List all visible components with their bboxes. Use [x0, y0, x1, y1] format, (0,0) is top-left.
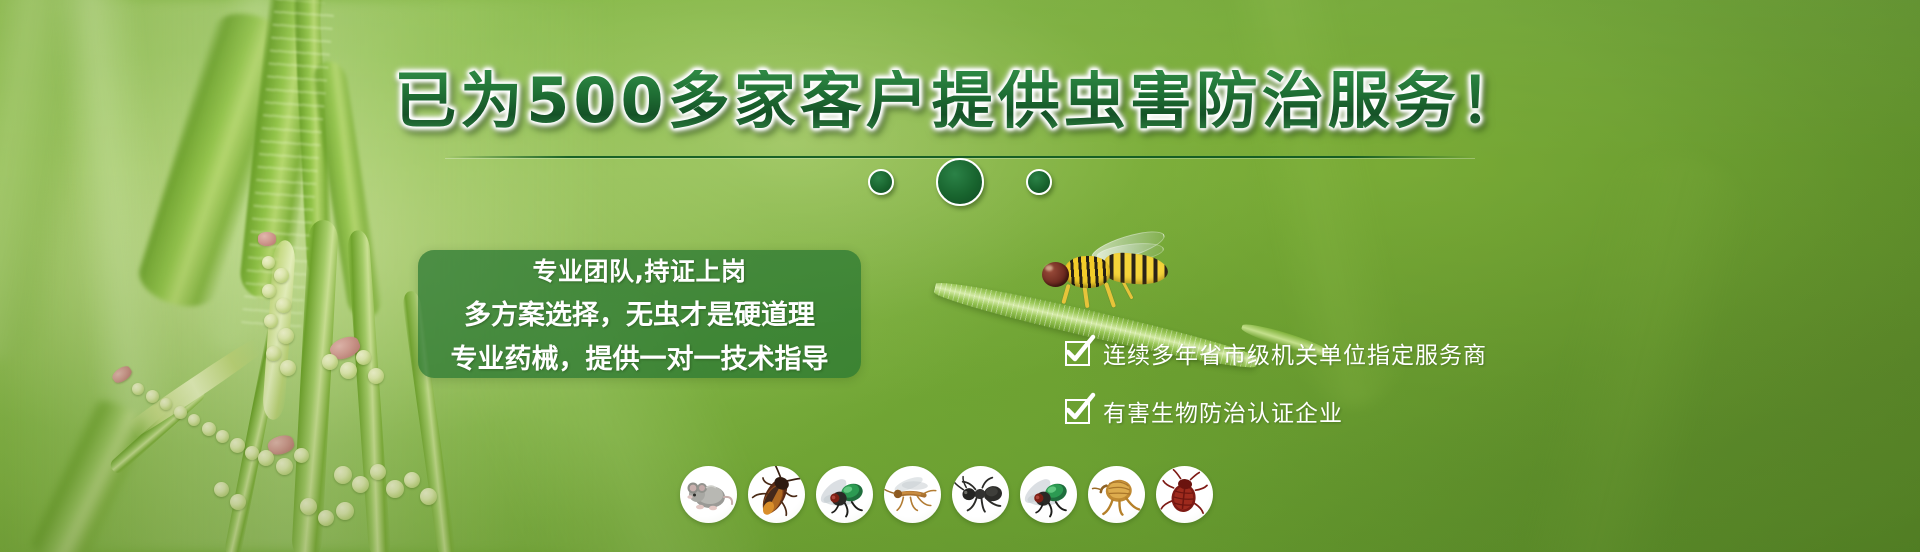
bedbug-icon: [1156, 466, 1213, 523]
credentials-list: 连续多年省市级机关单位指定服务商 有害生物防治认证企业: [1065, 336, 1487, 428]
flea-icon: [1088, 466, 1145, 523]
pest-icon-row: [680, 466, 1213, 523]
check-box-icon: [1065, 399, 1090, 424]
feature-panel-text: 专业团队,持证上岗 多方案选择，无虫才是硬道理 专业药械，提供一对一技术指导: [418, 250, 861, 378]
credential-item: 连续多年省市级机关单位指定服务商: [1065, 336, 1487, 370]
check-box-icon: [1065, 341, 1090, 366]
feature-line-2: 多方案选择，无虫才是硬道理: [464, 293, 815, 332]
hoverfly-icon: [1040, 246, 1170, 304]
credential-label: 有害生物防治认证企业: [1103, 394, 1343, 428]
feature-line-1: 专业团队,持证上岗: [533, 252, 747, 288]
mosquito-icon: [884, 466, 941, 523]
pest-control-banner: 已为500多家客户提供虫害防治服务！ 专业团队,持证上岗 多方案选择，无虫才是硬…: [0, 0, 1920, 552]
fly-icon: [816, 466, 873, 523]
cockroach-icon: [748, 466, 805, 523]
feature-line-3: 专业药械，提供一对一技术指导: [451, 337, 829, 376]
ant-icon: [952, 466, 1009, 523]
dot-large-center: [936, 158, 984, 206]
dot-small-left: [868, 169, 894, 195]
mouse-icon: [680, 466, 737, 523]
credential-item: 有害生物防治认证企业: [1065, 394, 1487, 428]
dot-small-right: [1026, 169, 1052, 195]
credential-label: 连续多年省市级机关单位指定服务商: [1103, 336, 1487, 370]
decorative-dots: [868, 158, 1052, 206]
fly-icon: [1020, 466, 1077, 523]
